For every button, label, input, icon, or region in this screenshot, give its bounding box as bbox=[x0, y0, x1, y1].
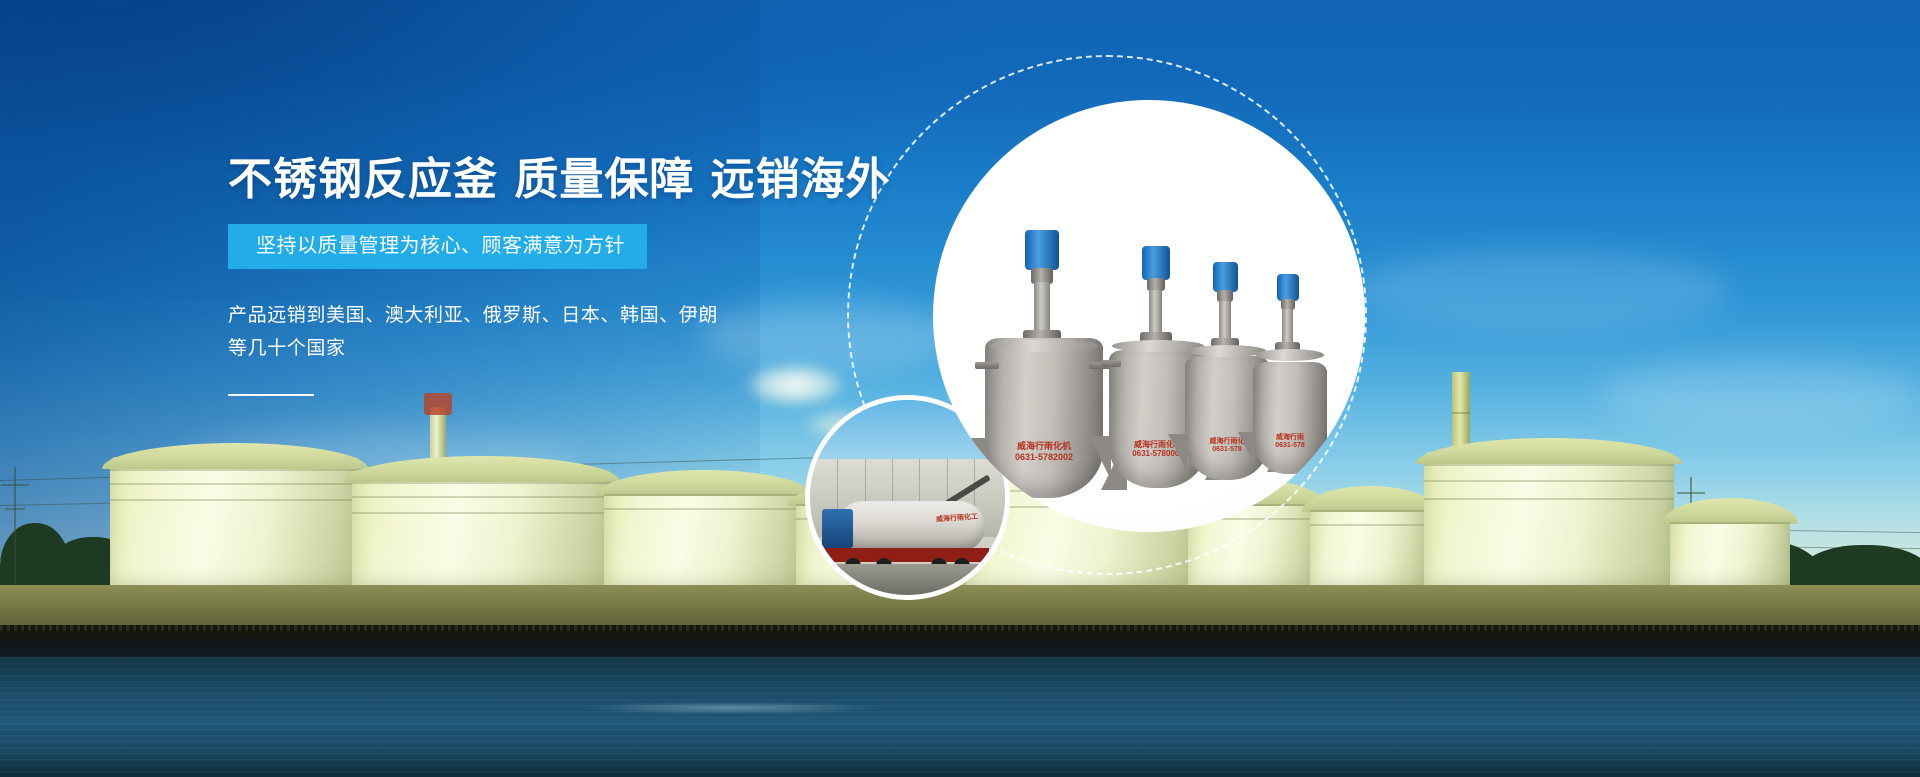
reactor-vessel: 威海行雨化机 0631-5782002 bbox=[985, 230, 1103, 498]
vessel-label: 威海行雨 0631-578 bbox=[1275, 434, 1305, 450]
divider-rule bbox=[228, 394, 314, 396]
storage-tank bbox=[604, 484, 804, 592]
tagline-badge: 坚持以质量管理为核心、顾客满意为方针 bbox=[228, 224, 647, 269]
storage-tank bbox=[110, 457, 360, 592]
agitator-motor bbox=[1213, 262, 1238, 292]
page-title: 不锈钢反应釜 质量保障 远销海外 bbox=[228, 158, 868, 202]
product-showcase-circle: 威海行雨化机 0631-5782002 威海行雨化机 0631-5780001 bbox=[933, 100, 1365, 532]
support-leg bbox=[1325, 432, 1342, 466]
storage-tank bbox=[352, 470, 612, 592]
water-shimmer bbox=[0, 657, 1920, 777]
vessel-lid bbox=[1256, 349, 1324, 361]
reactor-vessel: 威海行雨 0631-578 bbox=[1253, 274, 1327, 474]
agitator-motor bbox=[1277, 274, 1299, 301]
support-leg bbox=[1238, 432, 1255, 466]
agitator-motor bbox=[1142, 246, 1170, 280]
support-leg bbox=[1089, 436, 1111, 480]
inset-truck-cab bbox=[822, 509, 853, 548]
inset-tanker-vessel bbox=[837, 501, 985, 552]
banner-copy: 不锈钢反应釜 质量保障 远销海外 坚持以质量管理为核心、顾客满意为方针 产品远销… bbox=[228, 158, 868, 396]
storage-tank bbox=[1310, 500, 1430, 592]
vessel-label: 威海行雨化机 0631-5782002 bbox=[1015, 441, 1073, 462]
flare-stack-top bbox=[424, 393, 452, 415]
storage-tank bbox=[1424, 452, 1674, 592]
support-leg bbox=[961, 438, 987, 490]
agitator-motor bbox=[1025, 230, 1059, 270]
hero-banner: 威海行雨化工 威海行雨化机 0631-5782002 bbox=[0, 0, 1920, 777]
vessel-lid bbox=[989, 340, 1099, 352]
support-leg bbox=[1168, 434, 1187, 472]
drive-shaft bbox=[1034, 282, 1050, 334]
side-nozzle bbox=[975, 362, 999, 369]
water-glint bbox=[520, 699, 940, 717]
inset-ground bbox=[810, 564, 1005, 595]
description-text: 产品远销到美国、澳大利亚、俄罗斯、日本、韩国、伊朗 等几十个国家 bbox=[228, 299, 868, 366]
description-line-1: 产品远销到美国、澳大利亚、俄罗斯、日本、韩国、伊朗 bbox=[228, 299, 868, 332]
vessel-body bbox=[985, 338, 1103, 498]
drive-shaft bbox=[1149, 290, 1162, 336]
cloud bbox=[1600, 360, 1920, 430]
transmission-pylon bbox=[14, 467, 16, 587]
drive-shaft bbox=[1219, 301, 1231, 341]
cloud bbox=[1350, 250, 1730, 330]
drive-shaft bbox=[1282, 309, 1293, 345]
side-nozzle bbox=[1101, 360, 1121, 367]
description-line-2: 等几十个国家 bbox=[228, 332, 868, 365]
vessel-body bbox=[1253, 362, 1327, 474]
storage-tank bbox=[1670, 512, 1790, 592]
